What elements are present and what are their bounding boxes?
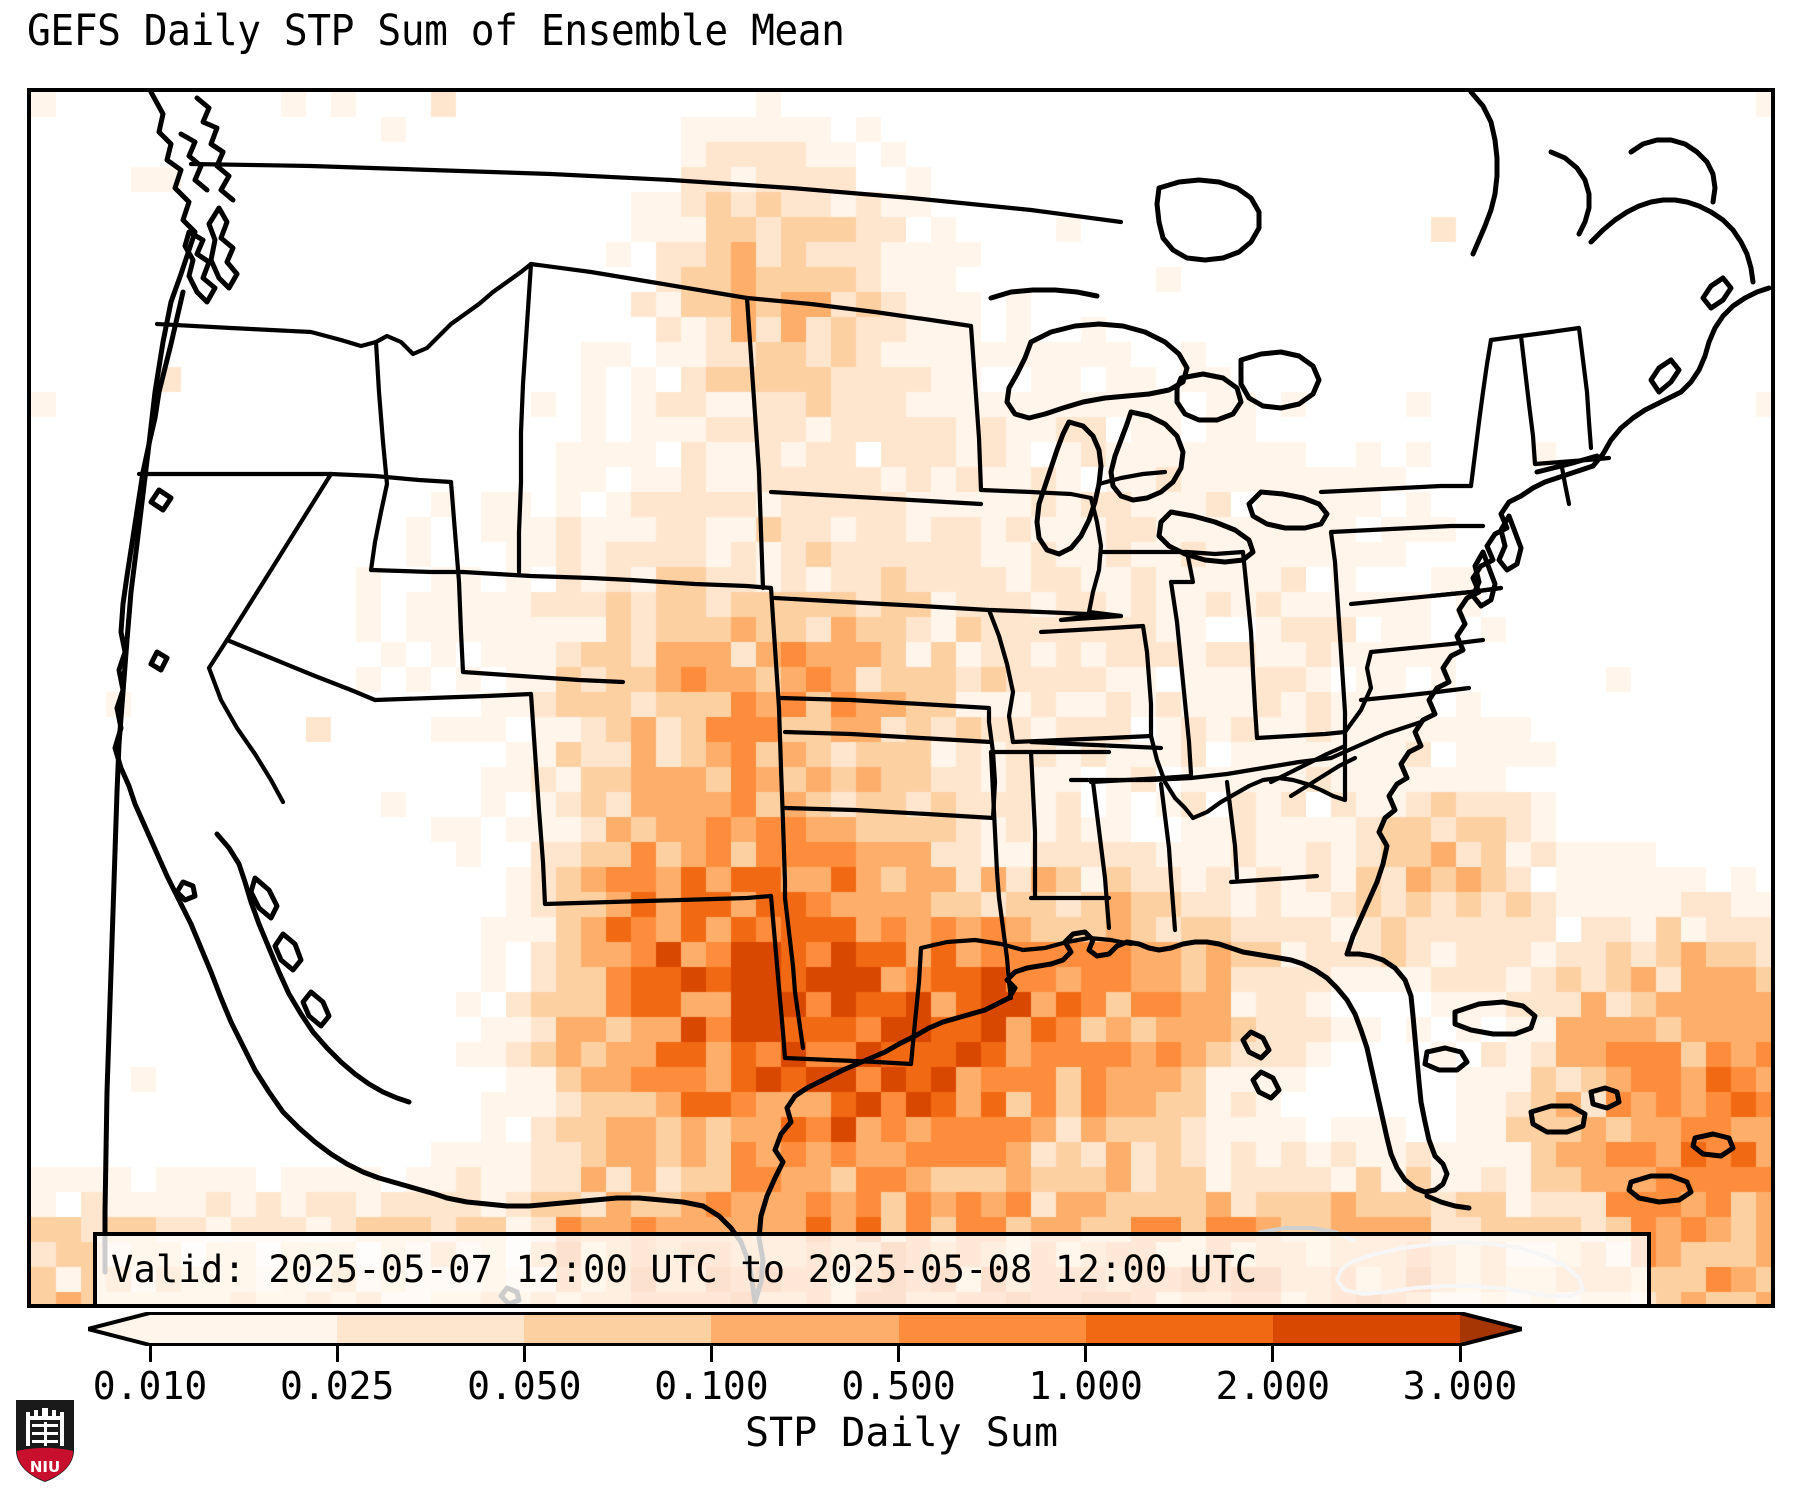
- run-time-text: Run: 2025-04-29 00:00 UTC: [111, 1298, 1633, 1309]
- colorbar-tick-1: [336, 1346, 339, 1362]
- geography-overlay: [31, 92, 1771, 1304]
- niu-logo-text: NIU: [30, 1458, 60, 1476]
- colorbar-tick-2: [523, 1346, 526, 1362]
- niu-logo: NIU: [14, 1398, 76, 1484]
- colorbar-ticks: [0, 1346, 1803, 1362]
- colorbar-label-2: 0.050: [467, 1364, 581, 1408]
- valid-time-text: Valid: 2025-05-07 12:00 UTC to 2025-05-0…: [111, 1242, 1633, 1298]
- state-borders-layer: [139, 164, 1609, 1064]
- colorbar-tick-6: [1271, 1346, 1274, 1362]
- map-inner: [31, 92, 1771, 1304]
- colorbar-segment-0: [150, 1312, 337, 1346]
- colorbar-segment-6: [1273, 1312, 1460, 1346]
- colorbar-segment-2: [524, 1312, 711, 1346]
- info-box: Valid: 2025-05-07 12:00 UTC to 2025-05-0…: [93, 1232, 1651, 1308]
- colorbar-segment-5: [1086, 1312, 1273, 1346]
- colorbar-gradient: [150, 1312, 1460, 1346]
- colorbar-segment-3: [711, 1312, 898, 1346]
- colorbar-label-0: 0.010: [93, 1364, 207, 1408]
- coastline-layer: [105, 92, 1769, 1304]
- map-panel: Valid: 2025-05-07 12:00 UTC to 2025-05-0…: [27, 88, 1775, 1308]
- page-title: GEFS Daily STP Sum of Ensemble Mean: [27, 8, 845, 55]
- colorbar-tick-5: [1084, 1346, 1087, 1362]
- colorbar-axis-label: STP Daily Sum: [0, 1410, 1803, 1456]
- colorbar-label-1: 0.025: [280, 1364, 394, 1408]
- colorbar-tick-4: [897, 1346, 900, 1362]
- colorbar-label-4: 0.500: [841, 1364, 955, 1408]
- colorbar-segment-4: [899, 1312, 1086, 1346]
- colorbar-tick-3: [710, 1346, 713, 1362]
- colorbar-tick-labels: 0.0100.0250.0500.1000.5001.0002.0003.000: [0, 1364, 1803, 1414]
- colorbar-max-extend-arrow: [1460, 1312, 1522, 1346]
- colorbar-min-extend-arrow: [88, 1312, 150, 1346]
- colorbar-label-7: 3.000: [1403, 1364, 1517, 1408]
- colorbar-label-5: 1.000: [1029, 1364, 1143, 1408]
- colorbar-label-3: 0.100: [654, 1364, 768, 1408]
- colorbar-tick-0: [149, 1346, 152, 1362]
- colorbar-segment-1: [337, 1312, 524, 1346]
- colorbar: 0.0100.0250.0500.1000.5001.0002.0003.000: [0, 1312, 1803, 1372]
- colorbar-label-6: 2.000: [1216, 1364, 1330, 1408]
- colorbar-tick-7: [1459, 1346, 1462, 1362]
